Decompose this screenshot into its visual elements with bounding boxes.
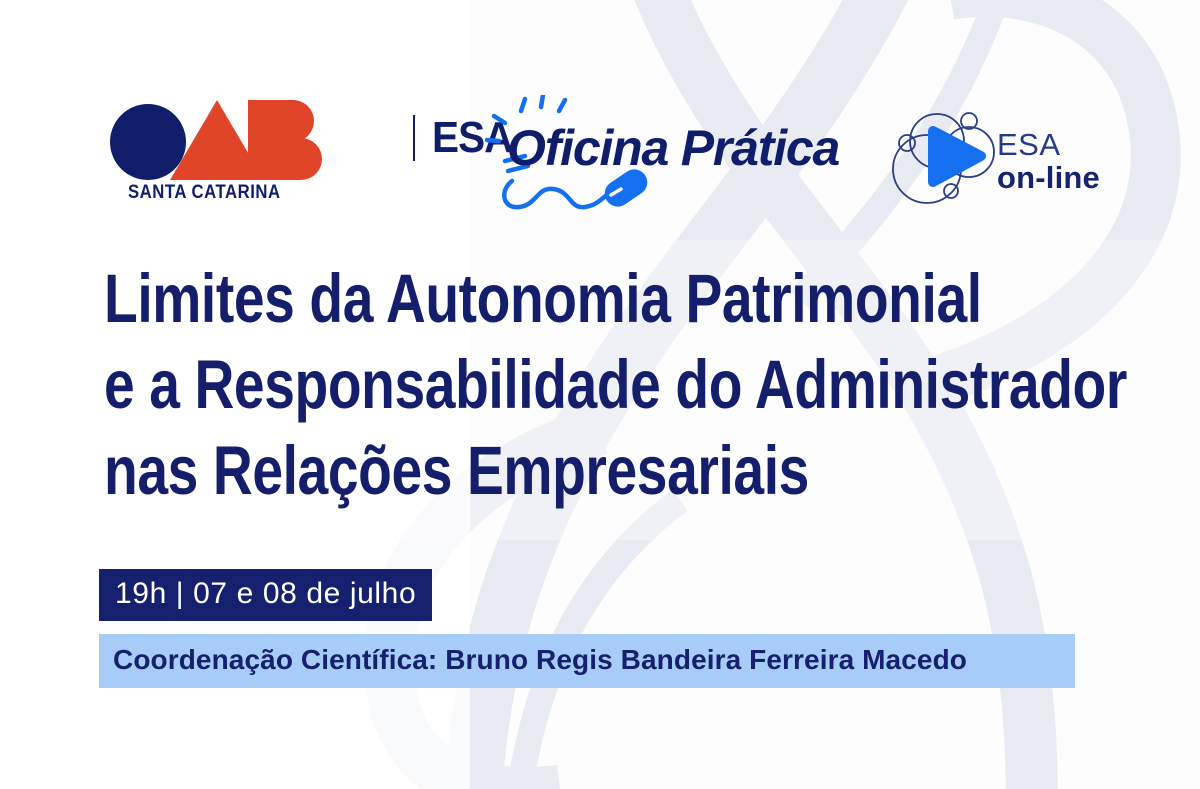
oficina-pratica-logo: Oficina Prática [485,95,885,215]
esa-online-line-1: ESA [997,129,1100,162]
oab-letterforms [110,100,410,180]
page-title: Limites da Autonomia Patrimonial e a Res… [104,256,1164,514]
coordination-text: Coordenação Científica: Bruno Regis Band… [113,644,967,675]
esa-online-wordmark: ESA on-line [997,129,1100,195]
title-line-1: Limites da Autonomia Patrimonial [104,256,952,342]
esa-online-logo: ESA on-line [885,103,1105,208]
oab-subtitle: SANTA CATARINA [128,182,281,204]
esa-online-line-2: on-line [997,162,1100,195]
event-banner: SANTA CATARINA ESA [0,0,1200,789]
title-line-2: e a Responsabilidade do Administrador [104,342,952,428]
play-triangle-icon [933,131,981,182]
coordination-bar: Coordenação Científica: Bruno Regis Band… [99,634,1075,688]
logo-row: SANTA CATARINA ESA [110,95,1110,215]
oficina-pratica-wordmark: Oficina Prática [507,119,839,177]
date-badge-text: 19h | 07 e 08 de julho [115,577,416,610]
date-badge: 19h | 07 e 08 de julho [99,569,432,621]
title-line-3: nas Relações Empresariais [104,428,952,514]
logo-divider [413,115,415,161]
oab-letter-b-icon [248,100,322,180]
oab-letter-o-icon [110,104,186,180]
oab-logo: SANTA CATARINA [110,100,410,210]
